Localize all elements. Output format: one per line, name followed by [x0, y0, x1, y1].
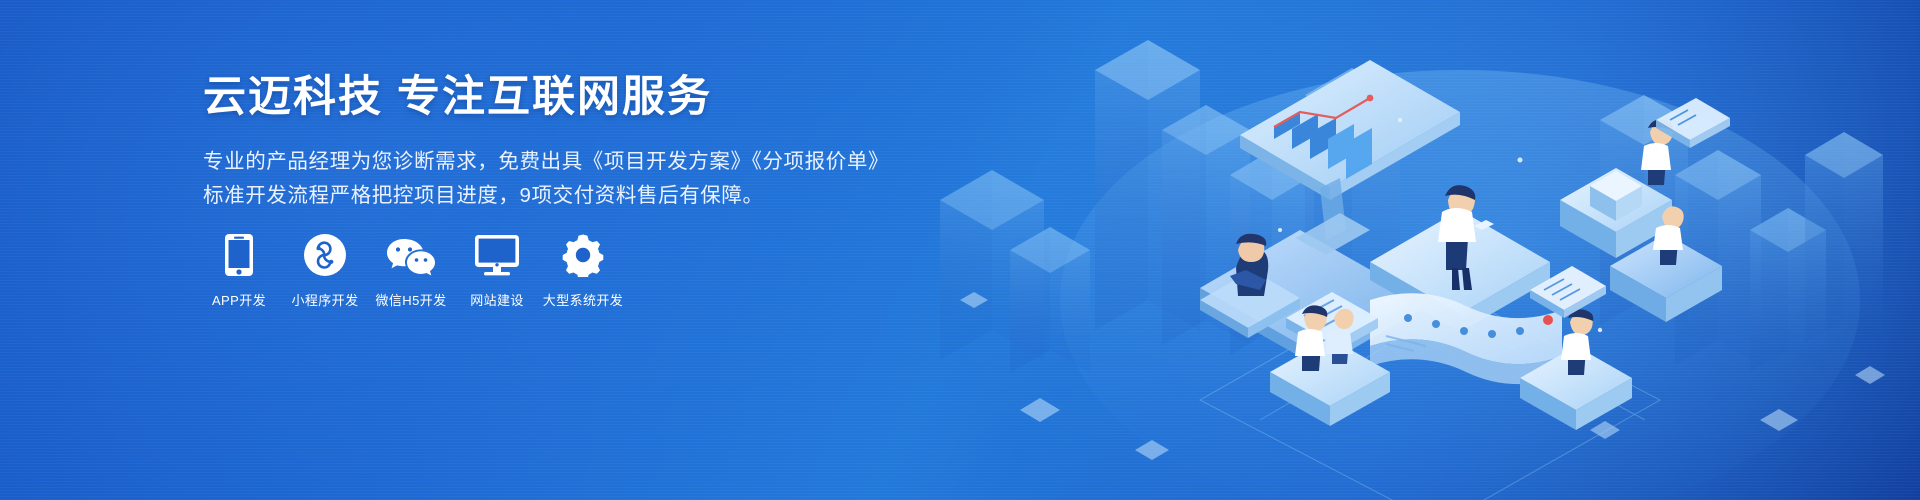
page-title: 云迈科技 专注互联网服务: [203, 72, 889, 123]
subtitle-line-1: 专业的产品经理为您诊断需求，免费出具《项目开发方案》《分项报价单》: [203, 145, 889, 179]
service-label: 大型系统开发: [543, 290, 623, 309]
service-label: 小程序开发: [291, 290, 358, 309]
banner-subtitle: 专业的产品经理为您诊断需求，免费出具《项目开发方案》《分项报价单》 标准开发流程…: [203, 145, 889, 213]
hero-banner: 云迈科技 专注互联网服务 专业的产品经理为您诊断需求，免费出具《项目开发方案》《…: [0, 0, 1920, 500]
service-item-large-system[interactable]: 大型系统开发: [547, 232, 619, 309]
service-label: 微信H5开发: [375, 290, 446, 309]
mini-program-icon: [303, 232, 347, 278]
service-item-mini-program[interactable]: 小程序开发: [289, 232, 361, 309]
gear-icon: [561, 232, 605, 278]
service-label: APP开发: [212, 290, 266, 309]
service-list: APP开发 小程序开发: [203, 232, 633, 309]
service-item-wechat-h5[interactable]: 微信H5开发: [375, 232, 447, 309]
subtitle-line-2: 标准开发流程严格把控项目进度，9项交付资料售后有保障。: [203, 179, 889, 213]
service-item-website[interactable]: 网站建设: [461, 232, 533, 309]
service-item-app[interactable]: APP开发: [203, 232, 275, 309]
banner-copy: 云迈科技 专注互联网服务 专业的产品经理为您诊断需求，免费出具《项目开发方案》《…: [203, 72, 889, 213]
mobile-phone-icon: [224, 232, 254, 278]
wechat-icon: [385, 232, 437, 278]
isometric-tech-illustration: [900, 0, 1920, 500]
service-label: 网站建设: [470, 290, 524, 309]
monitor-icon: [474, 232, 520, 278]
